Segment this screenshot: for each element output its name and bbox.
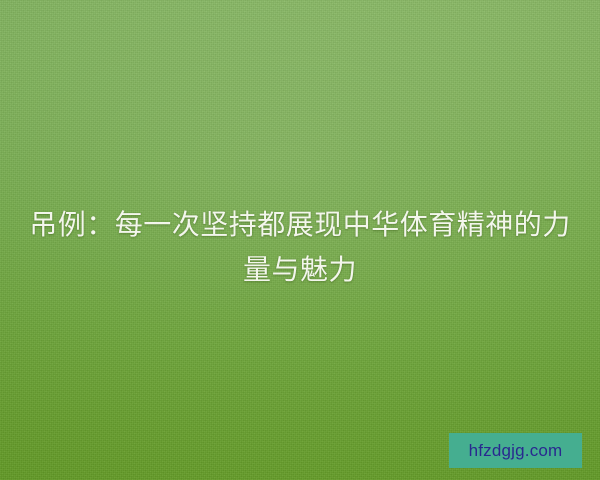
headline-text: 吊例：每一次坚持都展现中华体育精神的力量与魅力 <box>0 202 600 292</box>
watermark-badge: hfzdgjg.com <box>449 433 582 468</box>
watermark-label: hfzdgjg.com <box>469 442 563 459</box>
banner-image: 吊例：每一次坚持都展现中华体育精神的力量与魅力 hfzdgjg.com <box>0 0 600 480</box>
